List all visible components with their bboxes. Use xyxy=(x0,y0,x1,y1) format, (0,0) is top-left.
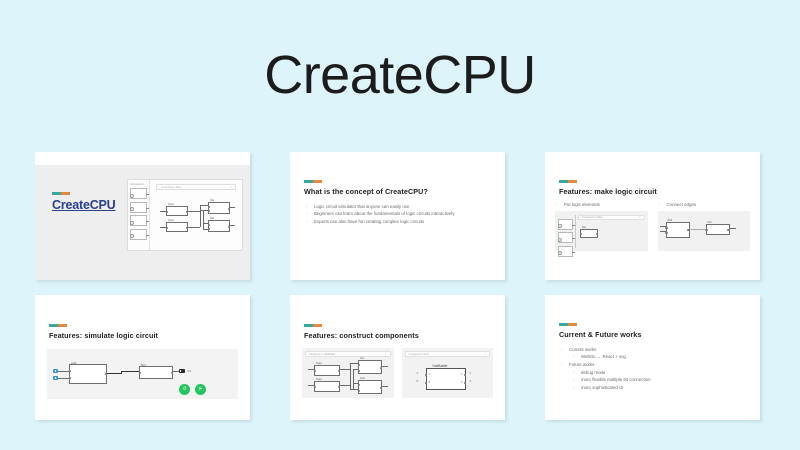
gate-pin xyxy=(380,387,382,389)
gate-pin xyxy=(338,386,340,388)
gate-label: Not xyxy=(582,226,586,229)
slide-body-simulate: Features: simulate logic circuit And Not xyxy=(35,308,250,420)
bullet-list: Logic circuit simulator that anyone can … xyxy=(304,203,491,226)
gate-pin xyxy=(208,210,210,212)
app-sidebar-label: Components xyxy=(130,183,147,186)
wire xyxy=(350,389,358,390)
pin-label: B xyxy=(429,381,431,384)
wire xyxy=(58,371,69,372)
list-item: Experts can also have fun creating compl… xyxy=(304,218,491,226)
accent-bar-icon xyxy=(49,324,67,327)
element-card xyxy=(558,219,573,230)
wire xyxy=(121,371,139,372)
accent-bar-icon xyxy=(304,324,322,327)
list-item: more sophisticated UI xyxy=(559,384,746,392)
wire xyxy=(160,211,166,212)
wire xyxy=(188,211,200,212)
list-item: Current works xyxy=(559,346,746,354)
wire xyxy=(660,231,666,232)
gate-pin xyxy=(338,370,340,372)
slide-card-title[interactable]: CreateCPU Components Component: R xyxy=(35,152,250,280)
element-card xyxy=(558,232,573,243)
slide-title: Features: make logic circuit xyxy=(559,187,750,196)
wire xyxy=(230,207,235,208)
panel-connect-edges: And Not xyxy=(658,211,751,251)
gate-pin xyxy=(358,370,360,372)
close-icon[interactable]: × xyxy=(385,353,387,356)
slide-title: Features: construct components xyxy=(304,331,491,340)
external-pin-label: S xyxy=(470,380,472,383)
gate-pin xyxy=(228,226,230,228)
slide-title: Current & Future works xyxy=(559,330,746,339)
column-group: Put logic elements Com xyxy=(555,202,750,251)
gate-box: And xyxy=(666,222,690,238)
slide-card-simulate[interactable]: Features: simulate logic circuit And Not xyxy=(35,295,250,420)
wire xyxy=(350,363,358,364)
gate-label: And xyxy=(71,361,76,365)
gate-pin xyxy=(358,390,360,392)
component-dropdown[interactable]: Component: HalfAdder × xyxy=(305,351,391,357)
gate-box: Input xyxy=(166,206,188,216)
wire xyxy=(107,373,121,374)
slide-content: What is the concept of CreateCPU? Logic … xyxy=(290,165,505,226)
gate-box: And xyxy=(358,380,382,394)
gate-box: Not xyxy=(139,366,173,379)
gate-label: Input xyxy=(316,362,322,365)
gate-box: Xor xyxy=(358,360,382,374)
output-label: Out xyxy=(187,370,191,373)
wire xyxy=(660,226,666,227)
column-label: Put logic elements xyxy=(555,202,648,207)
component-pin xyxy=(425,374,427,376)
gate-pin xyxy=(358,384,360,386)
gate-label: Not xyxy=(141,363,146,367)
component-pin xyxy=(425,382,427,384)
gate-pin xyxy=(166,227,168,229)
close-icon[interactable]: × xyxy=(484,353,486,356)
wire xyxy=(58,378,69,379)
slide-body-construct: Features: construct components Component… xyxy=(290,308,505,420)
list-item: Beginners can learn about the fundamenta… xyxy=(304,210,491,218)
output-indicator xyxy=(179,369,185,373)
list-item: debug mode xyxy=(559,369,746,377)
gate-pin xyxy=(208,224,210,226)
wire xyxy=(382,366,388,367)
wire xyxy=(308,369,314,370)
slide-top-strip xyxy=(35,152,250,165)
column-put-elements: Put logic elements Com xyxy=(555,202,648,251)
panel-sidebar-label xyxy=(558,214,573,217)
external-pin-label: B xyxy=(417,380,419,383)
component-dropdown: Component: Root × xyxy=(156,184,236,190)
slide-body-make-circuit: Features: make logic circuit Put logic e… xyxy=(545,165,760,280)
pin-label: S xyxy=(461,381,463,384)
pin-label: A xyxy=(429,373,431,376)
slide-body-concept: What is the concept of CreateCPU? Logic … xyxy=(290,165,505,280)
panel-halfadder-internals: Component: HalfAdder × Input Input xyxy=(302,348,394,398)
close-icon: × xyxy=(230,186,232,189)
accent-bar-icon xyxy=(559,323,577,326)
wire xyxy=(308,385,314,386)
component-box: HalfAdder A B C S xyxy=(426,368,466,390)
wire xyxy=(200,210,208,211)
gate-pin xyxy=(727,229,729,231)
slide-top-strip xyxy=(290,295,505,308)
title-slide-heading-group: CreateCPU xyxy=(52,192,116,212)
wire xyxy=(203,223,208,224)
wire xyxy=(200,205,201,227)
accent-bar-icon xyxy=(304,180,322,183)
column-label: Connect edges xyxy=(658,202,751,207)
component-pin xyxy=(464,374,466,376)
wire xyxy=(382,386,388,387)
slide-card-works[interactable]: Current & Future works Current works Web… xyxy=(545,295,760,420)
gate-label: Input xyxy=(316,378,322,381)
app-screenshot: Components Component: Root × xyxy=(127,179,243,251)
bullet-list: Current works WebGL → React + svg Future… xyxy=(559,346,746,392)
element-card xyxy=(558,246,573,257)
gate-pin xyxy=(705,229,707,231)
gate-label: And xyxy=(668,219,673,222)
component-pin xyxy=(464,382,466,384)
gate-pin xyxy=(208,206,210,208)
gate-pin xyxy=(69,377,71,379)
toggle-knob xyxy=(55,370,57,372)
slide-top-strip xyxy=(545,295,760,308)
app-canvas: Component: Root × Input Input xyxy=(150,180,242,250)
slide-content: Features: make logic circuit Put logic e… xyxy=(545,165,760,251)
component-dropdown-value: Component: HalfAdder xyxy=(309,353,335,356)
slide-top-strip xyxy=(290,152,505,165)
gate-box: And xyxy=(69,364,107,384)
wire xyxy=(340,385,350,386)
component-dropdown: Component: Root ▾ xyxy=(578,215,645,220)
title-slide-title: CreateCPU xyxy=(52,198,116,212)
wire xyxy=(691,229,706,230)
gate-box: Not xyxy=(208,220,230,232)
wire xyxy=(353,369,358,370)
slide-grid: CreateCPU Components Component: R xyxy=(35,152,765,420)
wire xyxy=(230,225,235,226)
list-item: Logic circuit simulator that anyone can … xyxy=(304,203,491,211)
gate-box: Input xyxy=(166,222,188,232)
column-connect-edges: Connect edges And Not xyxy=(658,202,751,251)
indicator-knob xyxy=(180,370,182,372)
gate-pin xyxy=(314,386,316,388)
slide-card-construct[interactable]: Features: construct components Component… xyxy=(290,295,505,420)
slide-title: Features: simulate logic circuit xyxy=(49,331,236,340)
element-card xyxy=(130,188,147,199)
element-card xyxy=(130,215,147,226)
slide-content: Current & Future works Current works Web… xyxy=(545,308,760,392)
gate-box: Input xyxy=(314,365,340,376)
slide-body-title: CreateCPU Components Component: R xyxy=(35,165,250,280)
wire xyxy=(353,369,354,389)
component-dropdown-value: Component: Root xyxy=(582,216,602,219)
gate-pin xyxy=(596,233,598,235)
gate-label: Input xyxy=(168,203,174,206)
run-icon[interactable]: ➤ xyxy=(195,384,206,395)
slide-top-strip xyxy=(545,152,760,165)
gate-pin xyxy=(665,227,667,229)
component-dropdown-value: Component: Root xyxy=(409,353,429,356)
gate-label: Not xyxy=(210,199,214,202)
wire xyxy=(203,229,208,230)
title-slide-canvas: CreateCPU Components Component: R xyxy=(35,165,250,280)
slide-title: What is the concept of CreateCPU? xyxy=(304,187,491,196)
gate-box: Not xyxy=(706,224,730,235)
slide-body-works: Current & Future works Current works Web… xyxy=(545,308,760,420)
accent-bar-icon xyxy=(52,192,70,195)
simulation-panel: And Not xyxy=(47,349,238,399)
wire xyxy=(353,383,358,384)
page-title: CreateCPU xyxy=(0,44,800,106)
slide-content: Features: simulate logic circuit xyxy=(35,308,250,340)
slide-content: Features: construct components xyxy=(290,308,505,340)
panel-divider xyxy=(575,215,576,248)
gate-pin xyxy=(687,229,689,231)
external-pin-label: A xyxy=(417,372,419,375)
gate-pin xyxy=(69,370,71,372)
gate-pin xyxy=(380,367,382,369)
slide-card-concept[interactable]: What is the concept of CreateCPU? Logic … xyxy=(290,152,505,280)
app-sidebar: Components xyxy=(128,180,150,250)
gate-box: Not xyxy=(208,202,230,214)
gate-pin xyxy=(314,370,316,372)
accent-bar-icon xyxy=(559,180,577,183)
gate-pin xyxy=(166,211,168,213)
component-dropdown[interactable]: Component: Root × xyxy=(405,351,491,357)
gate-pin xyxy=(665,232,667,234)
construct-panels: Component: HalfAdder × Input Input xyxy=(302,348,493,398)
component-dropdown-value: Component: Root xyxy=(161,186,181,189)
wire xyxy=(160,227,166,228)
gate-label: Not xyxy=(708,221,712,224)
wire xyxy=(350,363,351,389)
wire xyxy=(730,228,736,229)
gate-label: Xor xyxy=(360,357,364,360)
reset-icon[interactable]: ↺ xyxy=(179,384,190,395)
wire xyxy=(340,369,350,370)
gate-box: Input xyxy=(314,381,340,392)
chevron-down-icon: ▾ xyxy=(639,216,640,219)
panel-halfadder-component: Component: Root × HalfAdder A B C xyxy=(402,348,494,398)
list-item: Future works xyxy=(559,361,746,369)
gate-pin xyxy=(171,372,173,374)
wire xyxy=(203,211,204,229)
element-card xyxy=(130,229,147,240)
toggle-knob xyxy=(55,377,57,379)
gate-box: Not xyxy=(580,229,598,238)
slide-card-make-circuit[interactable]: Features: make logic circuit Put logic e… xyxy=(545,152,760,280)
gate-label: And xyxy=(360,377,365,380)
gate-pin xyxy=(228,208,230,210)
presentation-page: CreateCPU CreateCPU Components xyxy=(0,0,800,450)
gate-pin xyxy=(208,228,210,230)
gate-pin xyxy=(358,364,360,366)
external-pin-label: C xyxy=(470,372,472,375)
gate-pin xyxy=(139,372,141,374)
pin-label: C xyxy=(461,373,463,376)
list-item: WebGL → React + svg xyxy=(559,353,746,361)
gate-label: Not xyxy=(210,217,214,220)
gate-pin xyxy=(580,233,582,235)
list-item: more flexible multiple bit connection xyxy=(559,376,746,384)
slide-top-strip xyxy=(35,295,250,308)
wire xyxy=(200,205,208,206)
panel-put-elements: Component: Root ▾ Not xyxy=(555,211,648,251)
component-name: HalfAdder xyxy=(433,364,448,368)
wire xyxy=(188,227,200,228)
element-card xyxy=(130,202,147,213)
gate-label: Input xyxy=(168,219,174,222)
